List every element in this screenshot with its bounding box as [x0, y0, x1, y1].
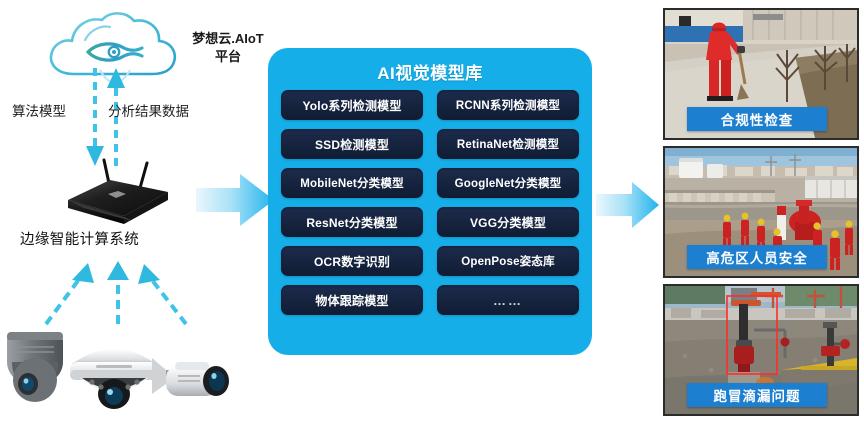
ai-model-library-panel: AI视觉模型库 Yolo系列检测模型 RCNN系列检测模型 SSD检测模型 Re… [268, 48, 592, 355]
result-photo-compliance: 合规性检查 [663, 8, 859, 140]
result-photo-leak-detection: 跑冒滴漏问题 [663, 284, 859, 416]
router-device-icon [48, 158, 188, 230]
analysis-result-label: 分析结果数据 [108, 100, 189, 120]
cloud-title-line1: 梦想云.AIoT [192, 31, 264, 46]
model-chip[interactable]: VGG分类模型 [437, 207, 579, 237]
model-chip[interactable]: SSD检测模型 [281, 129, 423, 159]
model-chip[interactable]: Yolo系列检测模型 [281, 90, 423, 120]
camera-group [0, 318, 240, 418]
model-chip[interactable]: MobileNet分类模型 [281, 168, 423, 198]
result-badge: 合规性检查 [687, 107, 827, 131]
model-chip[interactable]: RCNN系列检测模型 [437, 90, 579, 120]
edge-system-label: 边缘智能计算系统 [20, 228, 139, 249]
model-chip[interactable]: RetinaNet检测模型 [437, 129, 579, 159]
panel-title: AI视觉模型库 [268, 59, 592, 84]
result-badge: 跑冒滴漏问题 [687, 383, 827, 407]
model-chip-grid: Yolo系列检测模型 RCNN系列检测模型 SSD检测模型 RetinaNet检… [281, 90, 579, 315]
result-photo-high-risk-area: 高危区人员安全 [663, 146, 859, 278]
ptz-dome-camera [7, 332, 63, 402]
bullet-camera [152, 358, 229, 396]
result-badge: 高危区人员安全 [687, 245, 827, 269]
model-chip[interactable]: ResNet分类模型 [281, 207, 423, 237]
diagram-canvas: 梦想云.AIoT 平台 算法模型 分析结果数据 [0, 0, 864, 422]
model-chip-more[interactable]: …… [437, 285, 579, 315]
block-arrow-right-icon-right [596, 176, 660, 239]
model-chip[interactable]: 物体跟踪模型 [281, 285, 423, 315]
model-chip[interactable]: OCR数字识别 [281, 246, 423, 276]
panoramic-dome-camera [70, 349, 158, 409]
model-chip[interactable]: GoogleNet分类模型 [437, 168, 579, 198]
block-arrow-right-icon-left [196, 166, 276, 239]
algorithm-model-label: 算法模型 [12, 100, 66, 120]
model-chip[interactable]: OpenPose姿态库 [437, 246, 579, 276]
